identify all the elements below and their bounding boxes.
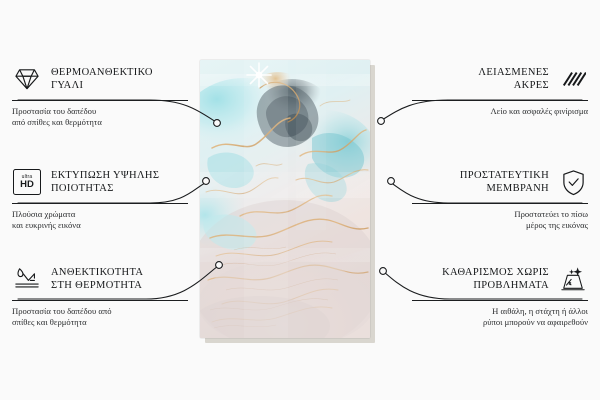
connector-dot-right-2 [388,178,395,185]
flame-deflect-icon [12,264,42,294]
feature-header: ΑΝΘΕΚΤΙΚΟΤΗΤΑ ΣΤΗ ΘΕΡΜΟΤΗΤΑ [12,264,188,294]
feature-header: ΚΑΘΑΡΙΣΜΟΣ ΧΩΡΙΣ ΠΡΟΒΛΗΜΑΤΑ [412,264,588,294]
feature-header: ultra HD ΕΚΤΥΠΩΣΗ ΥΨΗΛΗΣ ΠΟΙΟΤΗΤΑΣ [12,167,188,197]
feature-title: ΘΕΡΜΟΑΝΘΕΚΤΙΚΟ ΓΥΑΛΙ [51,66,153,92]
product-artwork [200,60,370,338]
feature-header: ΠΡΟΣΤΑΤΕΥΤΙΚΗ ΜΕΜΒΡΑΝΗ [412,167,588,197]
feature-description: Η αιθάλη, η στάχτη ή άλλοι ρύποι μπορούν… [412,306,588,328]
divider-rule [412,203,588,204]
divider-rule [12,203,188,204]
feature-protective-membrane[interactable]: ΠΡΟΣΤΑΤΕΥΤΙΚΗ ΜΕΜΒΡΑΝΗ Προστατεύει το πί… [412,167,588,231]
feature-heat-resistant-glass[interactable]: ΘΕΡΜΟΑΝΘΕΚΤΙΚΟ ΓΥΑΛΙ Προστασία του δαπέδ… [12,64,188,128]
divider-rule [12,300,188,301]
ultra-hd-icon-hd-text: HD [20,180,34,190]
feature-header: ΘΕΡΜΟΑΝΘΕΚΤΙΚΟ ΓΥΑΛΙ [12,64,188,94]
shield-check-icon [558,167,588,197]
diamond-icon [12,64,42,94]
divider-rule [412,300,588,301]
divider-rule [12,100,188,101]
feature-heat-durability[interactable]: ΑΝΘΕΚΤΙΚΟΤΗΤΑ ΣΤΗ ΘΕΡΜΟΤΗΤΑ Προστασία το… [12,264,188,328]
feature-description: Πλούσια χρώματα και ευκρινής εικόνα [12,209,188,231]
feature-header: ΛΕΙΑΣΜΕΝΕΣ ΑΚΡΕΣ [412,64,588,94]
divider-rule [412,100,588,101]
feature-description: Προστατεύει το πίσω μέρος της εικόνας [412,209,588,231]
infographic-stage: ΘΕΡΜΟΑΝΘΕΚΤΙΚΟ ΓΥΑΛΙ Προστασία του δαπέδ… [0,0,600,400]
ultra-hd-icon: ultra HD [12,167,42,197]
feature-title: ΑΝΘΕΚΤΙΚΟΤΗΤΑ ΣΤΗ ΘΕΡΜΟΤΗΤΑ [51,266,143,292]
feature-description: Προστασία του δαπέδου από σπίθες και θερ… [12,106,188,128]
feature-title: ΠΡΟΣΤΑΤΕΥΤΙΚΗ ΜΕΜΒΡΑΝΗ [460,169,549,195]
marble-artwork-svg [200,60,370,338]
feature-title: ΕΚΤΥΠΩΣΗ ΥΨΗΛΗΣ ΠΟΙΟΤΗΤΑΣ [51,169,159,195]
feature-high-quality-print[interactable]: ultra HD ΕΚΤΥΠΩΣΗ ΥΨΗΛΗΣ ΠΟΙΟΤΗΤΑΣ Πλούσ… [12,167,188,231]
feature-easy-cleaning[interactable]: ΚΑΘΑΡΙΣΜΟΣ ΧΩΡΙΣ ΠΡΟΒΛΗΜΑΤΑ Η αιθάλη, η … [412,264,588,328]
feature-description: Προστασία του δαπέδου από σπίθες και θερ… [12,306,188,328]
feature-title: ΚΑΘΑΡΙΣΜΟΣ ΧΩΡΙΣ ΠΡΟΒΛΗΜΑΤΑ [442,266,549,292]
sparkle-clean-icon [558,264,588,294]
product-image [200,60,370,338]
diagonal-lines-icon [558,64,588,94]
feature-polished-edges[interactable]: ΛΕΙΑΣΜΕΝΕΣ ΑΚΡΕΣ Λείο και ασφαλές φινίρι… [412,64,588,117]
feature-title: ΛΕΙΑΣΜΕΝΕΣ ΑΚΡΕΣ [478,66,549,92]
connector-dot-right-1 [378,118,385,125]
feature-description: Λείο και ασφαλές φινίρισμα [412,106,588,117]
connector-dot-right-3 [380,268,387,275]
